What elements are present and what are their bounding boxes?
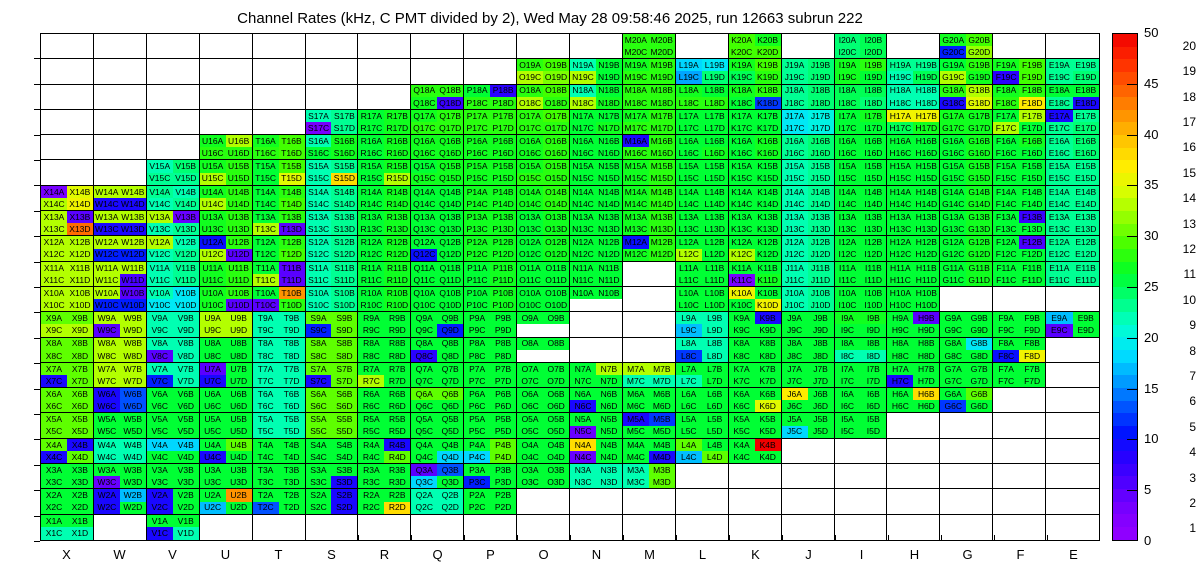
heatmap-cell-W4[interactable]: W4AW4BW4CW4D bbox=[94, 439, 147, 464]
channel-H12B[interactable]: H12B bbox=[913, 236, 939, 248]
heatmap-cell-G11[interactable]: G11AG11BG11CG11D bbox=[940, 262, 993, 287]
channel-W15A[interactable] bbox=[94, 160, 120, 172]
channel-L20D[interactable] bbox=[702, 46, 728, 58]
channel-G9B[interactable]: G9B bbox=[966, 312, 992, 324]
channel-I17D[interactable]: I17D bbox=[860, 122, 886, 134]
channel-O14A[interactable]: O14A bbox=[517, 186, 543, 198]
heatmap-cell-L5[interactable]: L5AL5BL5CL5D bbox=[676, 413, 729, 438]
channel-R7D[interactable]: R7D bbox=[384, 375, 410, 387]
channel-X15B[interactable] bbox=[67, 160, 93, 172]
channel-T19A[interactable] bbox=[253, 59, 279, 71]
channel-J17D[interactable]: J17D bbox=[808, 122, 834, 134]
channel-X6C[interactable]: X6C bbox=[41, 400, 67, 412]
channel-T8D[interactable]: T8D bbox=[279, 350, 305, 362]
channel-V10D[interactable]: V10D bbox=[173, 299, 199, 311]
channel-Q1D[interactable] bbox=[437, 527, 463, 540]
heatmap-cell-T8[interactable]: T8AT8BT8CT8D bbox=[253, 338, 306, 363]
channel-T5A[interactable]: T5A bbox=[253, 413, 279, 425]
channel-U5A[interactable]: U5A bbox=[200, 413, 226, 425]
channel-V17C[interactable] bbox=[147, 122, 173, 134]
heatmap-cell-R16[interactable]: R16AR16BR16CR16D bbox=[358, 135, 411, 160]
channel-G13C[interactable]: G13C bbox=[940, 223, 966, 235]
channel-S2C[interactable]: S2C bbox=[306, 502, 332, 514]
channel-K18D[interactable]: K18D bbox=[755, 97, 781, 109]
channel-N1B[interactable] bbox=[596, 515, 622, 528]
channel-T3B[interactable]: T3B bbox=[279, 464, 305, 476]
channel-U18C[interactable] bbox=[200, 97, 226, 109]
channel-N10C[interactable] bbox=[570, 299, 596, 311]
channel-O4B[interactable]: O4B bbox=[543, 439, 569, 451]
channel-V15C[interactable]: V15C bbox=[147, 173, 173, 185]
channel-U6B[interactable]: U6B bbox=[226, 388, 252, 400]
channel-G13A[interactable]: G13A bbox=[940, 211, 966, 223]
channel-P8D[interactable]: P8D bbox=[490, 350, 516, 362]
channel-K9C[interactable]: K9C bbox=[729, 324, 755, 336]
channel-S14D[interactable]: S14D bbox=[331, 198, 357, 210]
channel-H8C[interactable]: H8C bbox=[887, 350, 913, 362]
channel-Q2B[interactable]: Q2B bbox=[437, 489, 463, 501]
channel-O15A[interactable]: O15A bbox=[517, 160, 543, 172]
channel-S17C[interactable]: S17C bbox=[306, 122, 332, 134]
channel-I3A[interactable] bbox=[835, 464, 861, 476]
channel-F4A[interactable] bbox=[993, 439, 1019, 451]
channel-V18C[interactable] bbox=[147, 97, 173, 109]
heatmap-cell-R2[interactable]: R2AR2BR2CR2D bbox=[358, 489, 411, 514]
channel-Q16B[interactable]: Q16B bbox=[437, 135, 463, 147]
channel-L11D[interactable]: L11D bbox=[702, 274, 728, 286]
channel-X11C[interactable]: X11C bbox=[41, 274, 67, 286]
channel-E19B[interactable]: E19B bbox=[1073, 59, 1099, 71]
channel-V11D[interactable]: V11D bbox=[173, 274, 199, 286]
channel-O17D[interactable]: O17D bbox=[543, 122, 569, 134]
heatmap-cell-U7[interactable]: U7AU7BU7CU7D bbox=[200, 363, 253, 388]
channel-V8B[interactable]: V8B bbox=[173, 338, 199, 350]
channel-M2C[interactable] bbox=[623, 502, 649, 514]
channel-H19A[interactable]: H19A bbox=[887, 59, 913, 71]
channel-T4C[interactable]: T4C bbox=[253, 451, 279, 463]
channel-N20A[interactable] bbox=[570, 34, 596, 46]
channel-X14C[interactable]: X14C bbox=[41, 198, 67, 210]
channel-K13B[interactable]: K13B bbox=[755, 211, 781, 223]
heatmap-cell-K6[interactable]: K6AK6BK6CK6D bbox=[729, 388, 782, 413]
channel-S20B[interactable] bbox=[331, 34, 357, 46]
channel-J19B[interactable]: J19B bbox=[808, 59, 834, 71]
channel-K3D[interactable] bbox=[755, 476, 781, 488]
channel-R6A[interactable]: R6A bbox=[358, 388, 384, 400]
channel-N2D[interactable] bbox=[596, 502, 622, 514]
channel-W12B[interactable]: W12B bbox=[120, 236, 146, 248]
channel-F6B[interactable] bbox=[1019, 388, 1045, 400]
channel-X17A[interactable] bbox=[41, 110, 67, 122]
channel-M12D[interactable]: M12D bbox=[649, 249, 675, 261]
channel-R16C[interactable]: R16C bbox=[358, 147, 384, 159]
channel-P18B[interactable]: P18B bbox=[490, 85, 516, 97]
channel-Q4C[interactable]: Q4C bbox=[411, 451, 437, 463]
channel-P1D[interactable] bbox=[490, 527, 516, 540]
channel-U20B[interactable] bbox=[226, 34, 252, 46]
channel-U3B[interactable]: U3B bbox=[226, 464, 252, 476]
channel-I16C[interactable]: I16C bbox=[835, 147, 861, 159]
heatmap-cell-H20[interactable] bbox=[887, 34, 940, 59]
heatmap-cell-F5[interactable] bbox=[993, 413, 1046, 438]
channel-X8D[interactable]: X8D bbox=[67, 350, 93, 362]
channel-Q18A[interactable]: Q18A bbox=[411, 85, 437, 97]
channel-E1B[interactable] bbox=[1073, 515, 1099, 528]
heatmap-cell-W18[interactable] bbox=[94, 85, 147, 110]
channel-V5C[interactable]: V5C bbox=[147, 426, 173, 438]
channel-H16B[interactable]: H16B bbox=[913, 135, 939, 147]
channel-F11D[interactable]: F11D bbox=[1019, 274, 1045, 286]
channel-W2C[interactable]: W2C bbox=[94, 502, 120, 514]
channel-S9C[interactable]: S9C bbox=[306, 324, 332, 336]
channel-P4C[interactable]: P4C bbox=[464, 451, 490, 463]
channel-H18C[interactable]: H18C bbox=[887, 97, 913, 109]
heatmap-cell-Q8[interactable]: Q8AQ8BQ8CQ8D bbox=[411, 338, 464, 363]
channel-H19B[interactable]: H19B bbox=[913, 59, 939, 71]
channel-K17D[interactable]: K17D bbox=[755, 122, 781, 134]
channel-J11D[interactable]: J11D bbox=[808, 274, 834, 286]
channel-F19D[interactable]: F19D bbox=[1019, 71, 1045, 83]
channel-K18A[interactable]: K18A bbox=[729, 85, 755, 97]
heatmap-cell-J14[interactable]: J14AJ14BJ14CJ14D bbox=[782, 186, 835, 211]
channel-X14A[interactable]: X14A bbox=[41, 186, 67, 198]
channel-H4D[interactable] bbox=[913, 451, 939, 463]
channel-S4D[interactable]: S4D bbox=[331, 451, 357, 463]
heatmap-cell-P4[interactable]: P4AP4BP4CP4D bbox=[464, 439, 517, 464]
channel-S7B[interactable]: S7B bbox=[331, 363, 357, 375]
channel-M18D[interactable]: M18D bbox=[649, 97, 675, 109]
heatmap-cell-K8[interactable]: K8AK8BK8CK8D bbox=[729, 338, 782, 363]
heatmap-cell-F7[interactable]: F7AF7BF7CF7D bbox=[993, 363, 1046, 388]
channel-V13C[interactable]: V13C bbox=[147, 223, 173, 235]
heatmap-cell-W13[interactable]: W13AW13BW13CW13D bbox=[94, 211, 147, 236]
channel-N15B[interactable]: N15B bbox=[596, 160, 622, 172]
channel-W16B[interactable] bbox=[120, 135, 146, 147]
channel-K7B[interactable]: K7B bbox=[755, 363, 781, 375]
channel-G12D[interactable]: G12D bbox=[966, 249, 992, 261]
heatmap-cell-U18[interactable] bbox=[200, 85, 253, 110]
channel-L1B[interactable] bbox=[702, 515, 728, 528]
channel-M1D[interactable] bbox=[649, 527, 675, 540]
channel-X18C[interactable] bbox=[41, 97, 67, 109]
channel-H13A[interactable]: H13A bbox=[887, 211, 913, 223]
channel-O18B[interactable]: O18B bbox=[543, 85, 569, 97]
channel-M2D[interactable] bbox=[649, 502, 675, 514]
channel-T18D[interactable] bbox=[279, 97, 305, 109]
channel-K3A[interactable] bbox=[729, 464, 755, 476]
channel-G4C[interactable] bbox=[940, 451, 966, 463]
channel-H13B[interactable]: H13B bbox=[913, 211, 939, 223]
channel-Q19D[interactable] bbox=[437, 71, 463, 83]
channel-G1B[interactable] bbox=[966, 515, 992, 528]
channel-S10B[interactable]: S10B bbox=[331, 287, 357, 299]
channel-W5B[interactable]: W5B bbox=[120, 413, 146, 425]
channel-F11A[interactable]: F11A bbox=[993, 262, 1019, 274]
channel-H17A[interactable]: H17A bbox=[887, 110, 913, 122]
channel-R9D[interactable]: R9D bbox=[384, 324, 410, 336]
channel-I3C[interactable] bbox=[835, 476, 861, 488]
channel-H3B[interactable] bbox=[913, 464, 939, 476]
channel-Q6A[interactable]: Q6A bbox=[411, 388, 437, 400]
heatmap-cell-I20[interactable]: I20AI20BI20CI20D bbox=[835, 34, 888, 59]
heatmap-cell-R5[interactable]: R5AR5BR5CR5D bbox=[358, 413, 411, 438]
channel-N9C[interactable] bbox=[570, 324, 596, 336]
channel-I7B[interactable]: I7B bbox=[860, 363, 886, 375]
channel-U19A[interactable] bbox=[200, 59, 226, 71]
channel-I10D[interactable]: I10D bbox=[860, 299, 886, 311]
channel-E16B[interactable]: E16B bbox=[1073, 135, 1099, 147]
channel-T18B[interactable] bbox=[279, 85, 305, 97]
channel-U7A[interactable]: U7A bbox=[200, 363, 226, 375]
channel-L19B[interactable]: L19B bbox=[702, 59, 728, 71]
channel-H1A[interactable] bbox=[887, 515, 913, 528]
heatmap-cell-X3[interactable]: X3AX3BX3CX3D bbox=[41, 464, 94, 489]
channel-V16B[interactable] bbox=[173, 135, 199, 147]
channel-E6C[interactable] bbox=[1046, 400, 1072, 412]
heatmap-cell-W8[interactable]: W8AW8BW8CW8D bbox=[94, 338, 147, 363]
channel-M8D[interactable] bbox=[649, 350, 675, 362]
channel-H4A[interactable] bbox=[887, 439, 913, 451]
heatmap-cell-K13[interactable]: K13AK13BK13CK13D bbox=[729, 211, 782, 236]
channel-X9D[interactable]: X9D bbox=[67, 324, 93, 336]
channel-G3D[interactable] bbox=[966, 476, 992, 488]
channel-Q5B[interactable]: Q5B bbox=[437, 413, 463, 425]
heatmap-cell-S20[interactable] bbox=[306, 34, 359, 59]
heatmap-cell-H1[interactable] bbox=[887, 515, 940, 540]
channel-T7A[interactable]: T7A bbox=[253, 363, 279, 375]
heatmap-cell-P14[interactable]: P14AP14BP14CP14D bbox=[464, 186, 517, 211]
channel-H16C[interactable]: H16C bbox=[887, 147, 913, 159]
channel-N7B[interactable]: N7B bbox=[596, 363, 622, 375]
channel-V15D[interactable]: V15D bbox=[173, 173, 199, 185]
channel-E14B[interactable]: E14B bbox=[1073, 186, 1099, 198]
channel-U13C[interactable]: U13C bbox=[200, 223, 226, 235]
channel-T10C[interactable]: T10C bbox=[253, 299, 279, 311]
channel-P9A[interactable]: P9A bbox=[464, 312, 490, 324]
channel-K11A[interactable]: K11A bbox=[729, 262, 755, 274]
heatmap-cell-W3[interactable]: W3AW3BW3CW3D bbox=[94, 464, 147, 489]
channel-G10A[interactable] bbox=[940, 287, 966, 299]
channel-O1C[interactable] bbox=[517, 527, 543, 540]
channel-G17C[interactable]: G17C bbox=[940, 122, 966, 134]
channel-O9C[interactable] bbox=[517, 324, 543, 336]
channel-U2A[interactable]: U2A bbox=[200, 489, 226, 501]
channel-U12B[interactable]: U12B bbox=[226, 236, 252, 248]
channel-X18A[interactable] bbox=[41, 85, 67, 97]
heatmap-cell-R6[interactable]: R6AR6BR6CR6D bbox=[358, 388, 411, 413]
channel-Q5C[interactable]: Q5C bbox=[411, 426, 437, 438]
channel-G17D[interactable]: G17D bbox=[966, 122, 992, 134]
heatmap-cell-T11[interactable]: T11AT11BT11CT11D bbox=[253, 262, 306, 287]
channel-X2B[interactable]: X2B bbox=[67, 489, 93, 501]
channel-O10A[interactable]: O10A bbox=[517, 287, 543, 299]
heatmap-cell-Q18[interactable]: Q18AQ18BQ18CQ18D bbox=[411, 85, 464, 110]
channel-R4C[interactable]: R4C bbox=[358, 451, 384, 463]
channel-N20D[interactable] bbox=[596, 46, 622, 58]
heatmap-cell-Q6[interactable]: Q6AQ6BQ6CQ6D bbox=[411, 388, 464, 413]
channel-X20D[interactable] bbox=[67, 46, 93, 58]
heatmap-cell-J11[interactable]: J11AJ11BJ11CJ11D bbox=[782, 262, 835, 287]
channel-O13B[interactable]: O13B bbox=[543, 211, 569, 223]
channel-I16B[interactable]: I16B bbox=[860, 135, 886, 147]
channel-O19B[interactable]: O19B bbox=[543, 59, 569, 71]
channel-M11B[interactable] bbox=[649, 262, 675, 274]
channel-U15C[interactable]: U15C bbox=[200, 173, 226, 185]
channel-M18C[interactable]: M18C bbox=[623, 97, 649, 109]
channel-H2C[interactable] bbox=[887, 502, 913, 514]
heatmap-cell-T16[interactable]: T16AT16BT16CT16D bbox=[253, 135, 306, 160]
channel-S9D[interactable]: S9D bbox=[331, 324, 357, 336]
channel-M15D[interactable]: M15D bbox=[649, 173, 675, 185]
channel-O9B[interactable]: O9B bbox=[543, 312, 569, 324]
heatmap-cell-J15[interactable]: J15AJ15BJ15CJ15D bbox=[782, 160, 835, 185]
heatmap-cell-P15[interactable]: P15AP15BP15CP15D bbox=[464, 160, 517, 185]
channel-W1C[interactable] bbox=[94, 527, 120, 540]
channel-F13D[interactable]: F13D bbox=[1019, 223, 1045, 235]
channel-S14A[interactable]: S14A bbox=[306, 186, 332, 198]
channel-O11A[interactable]: O11A bbox=[517, 262, 543, 274]
channel-N6C[interactable]: N6C bbox=[570, 400, 596, 412]
channel-V20C[interactable] bbox=[147, 46, 173, 58]
heatmap-plot-area[interactable]: M20AM20BM20CM20DK20AK20BK20CK20DI20AI20B… bbox=[40, 33, 1100, 541]
channel-W14D[interactable]: W14D bbox=[120, 198, 146, 210]
heatmap-cell-V7[interactable]: V7AV7BV7CV7D bbox=[147, 363, 200, 388]
channel-E17C[interactable]: E17C bbox=[1046, 122, 1072, 134]
channel-P16C[interactable]: P16C bbox=[464, 147, 490, 159]
channel-W12A[interactable]: W12A bbox=[94, 236, 120, 248]
channel-I1A[interactable] bbox=[835, 515, 861, 528]
channel-K18B[interactable]: K18B bbox=[755, 85, 781, 97]
channel-N9D[interactable] bbox=[596, 324, 622, 336]
heatmap-cell-V15[interactable]: V15AV15BV15CV15D bbox=[147, 160, 200, 185]
channel-M7D[interactable]: M7D bbox=[649, 375, 675, 387]
channel-I18D[interactable]: I18D bbox=[860, 97, 886, 109]
channel-M1A[interactable] bbox=[623, 515, 649, 528]
channel-Q13A[interactable]: Q13A bbox=[411, 211, 437, 223]
channel-R5C[interactable]: R5C bbox=[358, 426, 384, 438]
channel-N2A[interactable] bbox=[570, 489, 596, 501]
channel-O6A[interactable]: O6A bbox=[517, 388, 543, 400]
channel-O16D[interactable]: O16D bbox=[543, 147, 569, 159]
channel-R17D[interactable]: R17D bbox=[384, 122, 410, 134]
channel-Q4B[interactable]: Q4B bbox=[437, 439, 463, 451]
channel-M7C[interactable]: M7C bbox=[623, 375, 649, 387]
channel-W12C[interactable]: W12C bbox=[94, 249, 120, 261]
channel-M20C[interactable]: M20C bbox=[623, 46, 649, 58]
heatmap-cell-O11[interactable]: O11AO11BO11CO11D bbox=[517, 262, 570, 287]
channel-G1A[interactable] bbox=[940, 515, 966, 528]
channel-E13D[interactable]: E13D bbox=[1073, 223, 1099, 235]
channel-G18A[interactable]: G18A bbox=[940, 85, 966, 97]
channel-M4D[interactable]: M4D bbox=[649, 451, 675, 463]
channel-K9A[interactable]: K9A bbox=[729, 312, 755, 324]
channel-P14B[interactable]: P14B bbox=[490, 186, 516, 198]
heatmap-cell-G15[interactable]: G15AG15BG15CG15D bbox=[940, 160, 993, 185]
heatmap-cell-T15[interactable]: T15AT15BT15CT15D bbox=[253, 160, 306, 185]
channel-P8C[interactable]: P8C bbox=[464, 350, 490, 362]
heatmap-cell-O4[interactable]: O4AO4BO4CO4D bbox=[517, 439, 570, 464]
heatmap-cell-I9[interactable]: I9AI9BI9CI9D bbox=[835, 312, 888, 337]
heatmap-cell-M6[interactable]: M6AM6BM6CM6D bbox=[623, 388, 676, 413]
heatmap-cell-S13[interactable]: S13AS13BS13CS13D bbox=[306, 211, 359, 236]
heatmap-cell-X7[interactable]: X7AX7BX7CX7D bbox=[41, 363, 94, 388]
channel-P13D[interactable]: P13D bbox=[490, 223, 516, 235]
channel-J2A[interactable] bbox=[782, 489, 808, 501]
channel-H10A[interactable]: H10A bbox=[887, 287, 913, 299]
channel-M3B[interactable]: M3B bbox=[649, 464, 675, 476]
heatmap-cell-P19[interactable] bbox=[464, 59, 517, 84]
channel-T18C[interactable] bbox=[253, 97, 279, 109]
heatmap-cell-H3[interactable] bbox=[887, 464, 940, 489]
channel-G4A[interactable] bbox=[940, 439, 966, 451]
channel-I14A[interactable]: I14A bbox=[835, 186, 861, 198]
heatmap-cell-U9[interactable]: U9AU9BU9CU9D bbox=[200, 312, 253, 337]
channel-P19C[interactable] bbox=[464, 71, 490, 83]
heatmap-cell-T3[interactable]: T3AT3BT3CT3D bbox=[253, 464, 306, 489]
channel-P6D[interactable]: P6D bbox=[490, 400, 516, 412]
channel-K7A[interactable]: K7A bbox=[729, 363, 755, 375]
channel-O19A[interactable]: O19A bbox=[517, 59, 543, 71]
channel-V7A[interactable]: V7A bbox=[147, 363, 173, 375]
channel-H4C[interactable] bbox=[887, 451, 913, 463]
channel-Q8C[interactable]: Q8C bbox=[411, 350, 437, 362]
channel-I11C[interactable]: I11C bbox=[835, 274, 861, 286]
channel-N2C[interactable] bbox=[570, 502, 596, 514]
channel-J5D[interactable]: J5D bbox=[808, 426, 834, 438]
channel-F14C[interactable]: F14C bbox=[993, 198, 1019, 210]
channel-T16A[interactable]: T16A bbox=[253, 135, 279, 147]
heatmap-cell-R19[interactable] bbox=[358, 59, 411, 84]
channel-T19D[interactable] bbox=[279, 71, 305, 83]
channel-S18D[interactable] bbox=[331, 97, 357, 109]
channel-N10B[interactable]: N10B bbox=[596, 287, 622, 299]
channel-O20D[interactable] bbox=[543, 46, 569, 58]
channel-I18A[interactable]: I18A bbox=[835, 85, 861, 97]
heatmap-cell-P18[interactable]: P18AP18BP18CP18D bbox=[464, 85, 517, 110]
heatmap-cell-T18[interactable] bbox=[253, 85, 306, 110]
channel-L13A[interactable]: L13A bbox=[676, 211, 702, 223]
channel-G16B[interactable]: G16B bbox=[966, 135, 992, 147]
channel-P2D[interactable]: P2D bbox=[490, 502, 516, 514]
heatmap-cell-X12[interactable]: X12AX12BX12CX12D bbox=[41, 236, 94, 261]
channel-E2C[interactable] bbox=[1046, 502, 1072, 514]
heatmap-cell-X19[interactable] bbox=[41, 59, 94, 84]
channel-F3D[interactable] bbox=[1019, 476, 1045, 488]
channel-R12D[interactable]: R12D bbox=[384, 249, 410, 261]
channel-W7B[interactable]: W7B bbox=[120, 363, 146, 375]
channel-L1A[interactable] bbox=[676, 515, 702, 528]
channel-H18B[interactable]: H18B bbox=[913, 85, 939, 97]
channel-H15D[interactable]: H15D bbox=[913, 173, 939, 185]
channel-H1D[interactable] bbox=[913, 527, 939, 540]
heatmap-cell-K1[interactable] bbox=[729, 515, 782, 540]
channel-K12C[interactable]: K12C bbox=[729, 249, 755, 261]
channel-U14B[interactable]: U14B bbox=[226, 186, 252, 198]
heatmap-cell-T4[interactable]: T4AT4BT4CT4D bbox=[253, 439, 306, 464]
heatmap-cell-I8[interactable]: I8AI8BI8CI8D bbox=[835, 338, 888, 363]
channel-G10D[interactable] bbox=[966, 299, 992, 311]
channel-J10B[interactable]: J10B bbox=[808, 287, 834, 299]
channel-X1D[interactable]: X1D bbox=[67, 527, 93, 540]
channel-Q11A[interactable]: Q11A bbox=[411, 262, 437, 274]
channel-X17B[interactable] bbox=[67, 110, 93, 122]
channel-E5B[interactable] bbox=[1073, 413, 1099, 425]
channel-W15D[interactable] bbox=[120, 173, 146, 185]
heatmap-cell-G13[interactable]: G13AG13BG13CG13D bbox=[940, 211, 993, 236]
channel-T1B[interactable] bbox=[279, 515, 305, 528]
channel-I17A[interactable]: I17A bbox=[835, 110, 861, 122]
channel-U3C[interactable]: U3C bbox=[200, 476, 226, 488]
